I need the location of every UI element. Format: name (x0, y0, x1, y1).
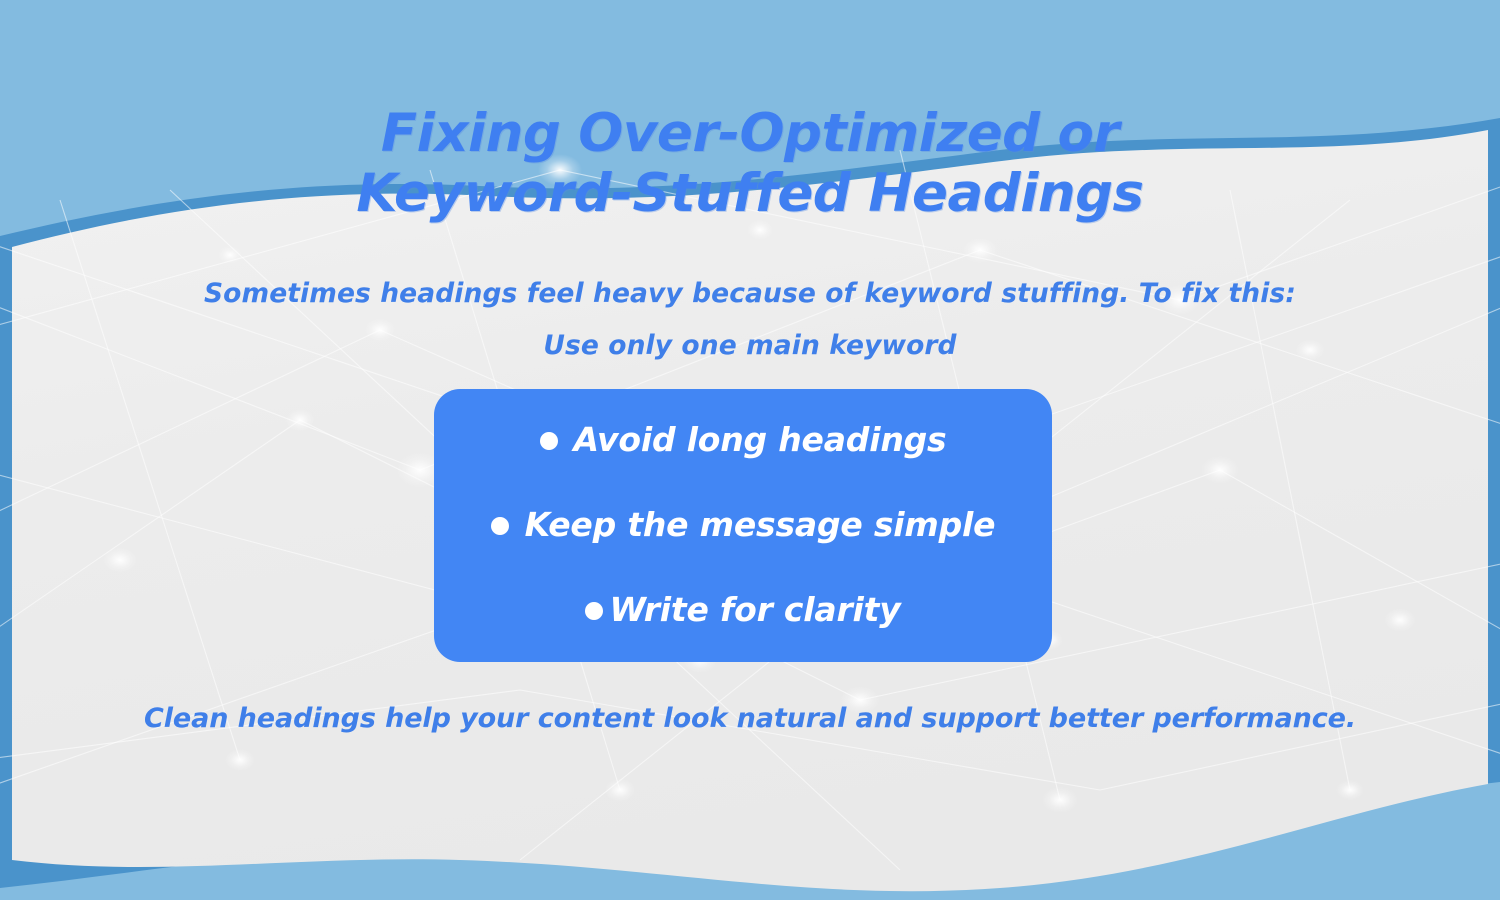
list-item: Avoid long headings (434, 397, 1052, 482)
page-title: Fixing Over-Optimized or Keyword-Stuffed… (0, 104, 1500, 225)
list-item: Keep the message simple (434, 482, 1052, 567)
subtitle-line-1: Sometimes headings feel heavy because of… (0, 268, 1500, 320)
bullet-dot-icon (540, 432, 558, 450)
bullet-dot-icon (585, 602, 603, 620)
tips-card: Avoid long headings Keep the message sim… (434, 389, 1052, 662)
slide-content: Fixing Over-Optimized or Keyword-Stuffed… (0, 0, 1500, 900)
list-item-label: Write for clarity (609, 590, 900, 629)
footer-text: Clean headings help your content look na… (0, 703, 1500, 734)
list-item-label: Keep the message simple (525, 505, 996, 544)
list-item: Write for clarity (434, 567, 1052, 652)
subtitle: Sometimes headings feel heavy because of… (0, 268, 1500, 373)
subtitle-line-2: Use only one main keyword (0, 320, 1500, 372)
list-item-label: Avoid long headings (574, 420, 947, 459)
title-line-1: Fixing Over-Optimized or (0, 104, 1500, 164)
bullet-dot-icon (491, 517, 509, 535)
title-line-2: Keyword-Stuffed Headings (0, 164, 1500, 224)
infographic-slide: Fixing Over-Optimized or Keyword-Stuffed… (0, 0, 1500, 900)
